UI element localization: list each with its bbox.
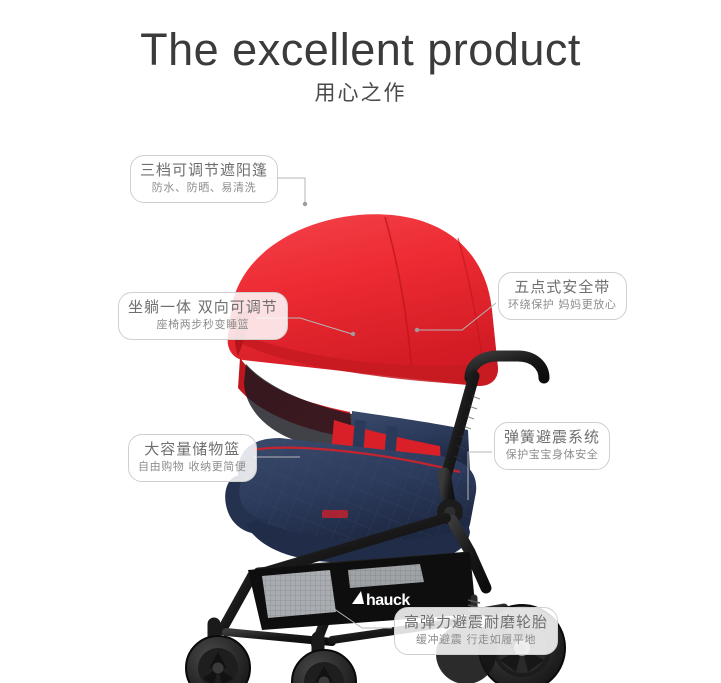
callout-storage-basket[interactable]: 大容量储物篮 自由购物 收纳更简便 bbox=[128, 434, 257, 482]
callout-spring-suspension[interactable]: 弹簧避震系统 保护宝宝身体安全 bbox=[494, 422, 610, 470]
page-title: The excellent product bbox=[0, 26, 721, 73]
callout-subtitle: 防水、防晒、易清洗 bbox=[140, 181, 268, 195]
callout-recline-seat[interactable]: 坐躺一体 双向可调节 座椅两步秒变睡篮 bbox=[118, 292, 288, 340]
callout-subtitle: 环绕保护 妈妈更放心 bbox=[508, 298, 617, 312]
callout-shock-absorbing-tires[interactable]: 高弹力避震耐磨轮胎 缓冲避震 行走如履平地 bbox=[394, 607, 558, 655]
callout-title: 高弹力避震耐磨轮胎 bbox=[404, 613, 548, 631]
callout-subtitle: 缓冲避震 行走如履平地 bbox=[404, 633, 548, 647]
callout-title: 坐躺一体 双向可调节 bbox=[128, 298, 278, 316]
callout-subtitle: 自由购物 收纳更简便 bbox=[138, 460, 247, 474]
callout-title: 大容量储物篮 bbox=[138, 440, 247, 458]
callout-sun-canopy[interactable]: 三档可调节遮阳篷 防水、防晒、易清洗 bbox=[130, 155, 278, 203]
front-wheel-right bbox=[292, 638, 356, 683]
callout-title: 三档可调节遮阳篷 bbox=[140, 161, 268, 179]
callout-subtitle: 保护宝宝身体安全 bbox=[504, 448, 600, 462]
product-infographic: The excellent product 用心之作 bbox=[0, 0, 721, 683]
callout-five-point-harness[interactable]: 五点式安全带 环绕保护 妈妈更放心 bbox=[498, 272, 627, 320]
callout-title: 五点式安全带 bbox=[508, 278, 617, 296]
callout-title: 弹簧避震系统 bbox=[504, 428, 600, 446]
header: The excellent product 用心之作 bbox=[0, 0, 721, 107]
page-subtitle: 用心之作 bbox=[0, 77, 721, 107]
product-image: hauck bbox=[0, 120, 721, 683]
callout-subtitle: 座椅两步秒变睡篮 bbox=[128, 318, 278, 332]
